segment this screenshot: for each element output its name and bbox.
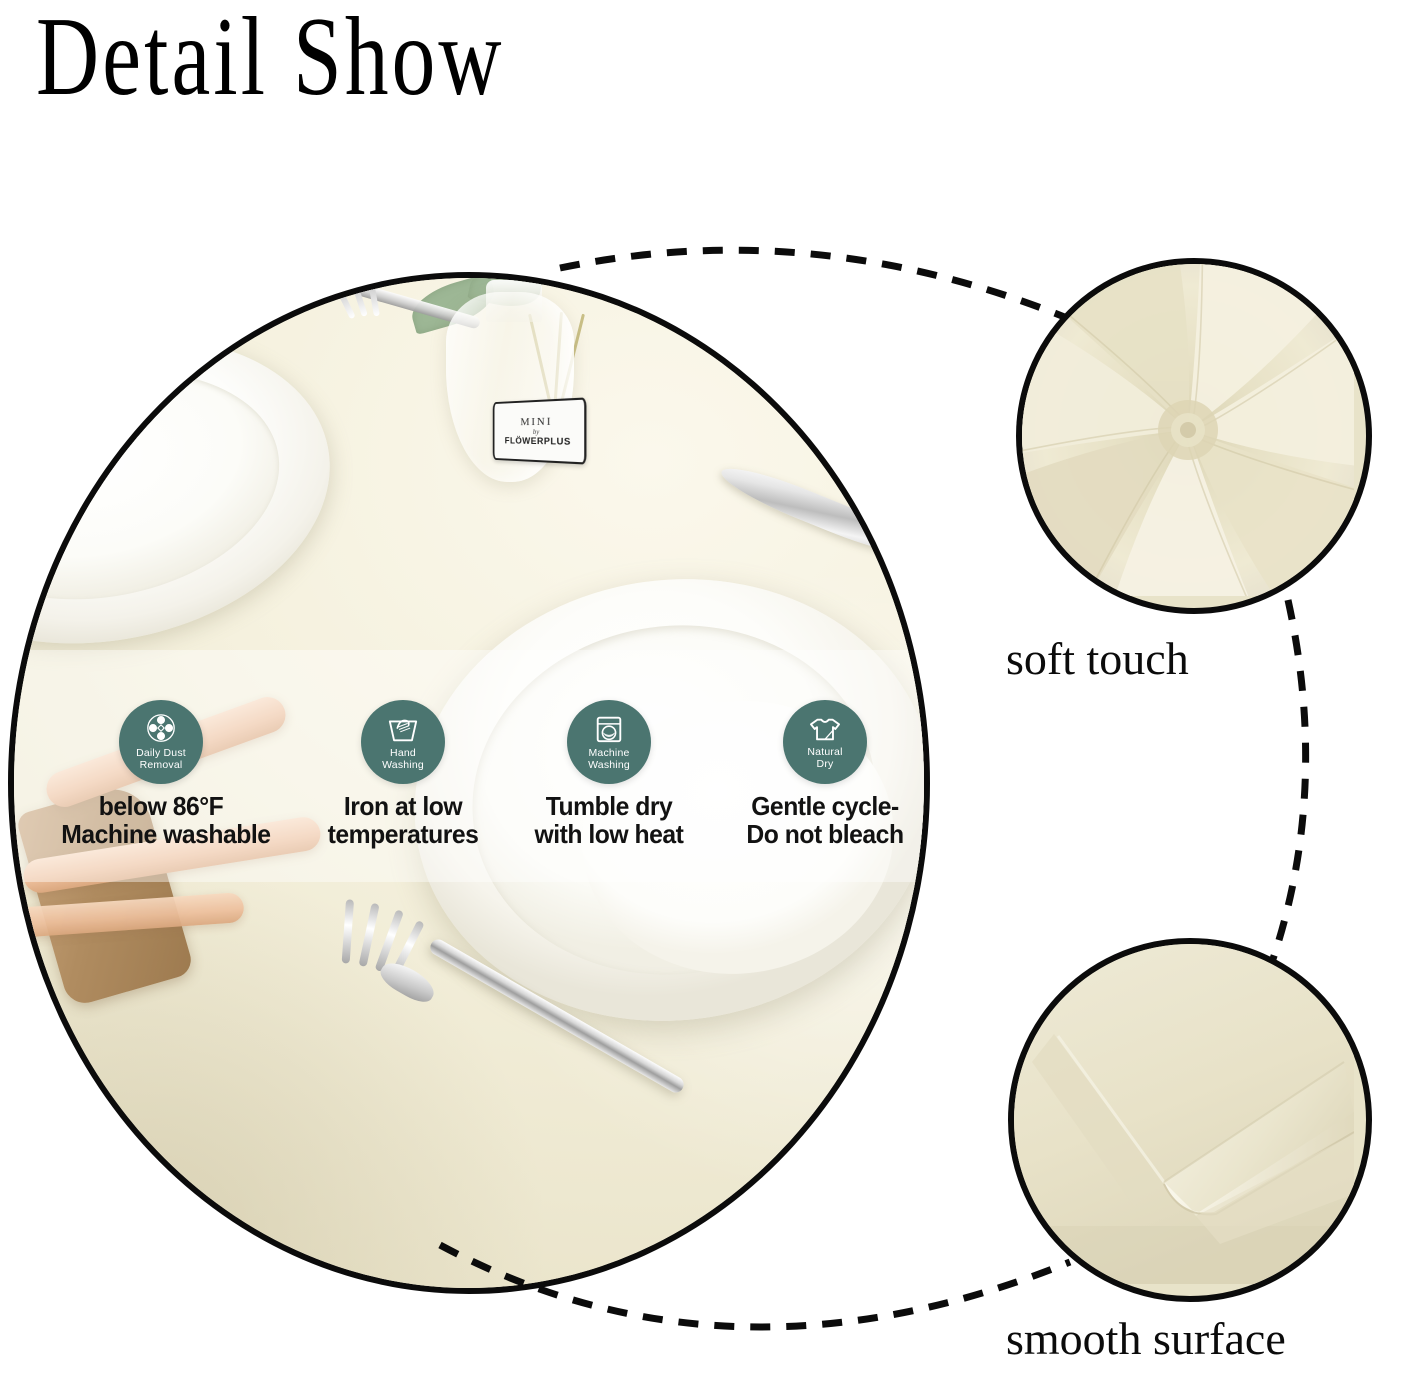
smooth-surface-caption: smooth surface: [1006, 1312, 1286, 1365]
page-title: Detail Show: [36, 0, 505, 119]
care-text-line2: temperatures: [303, 820, 503, 848]
care-item-hand-washing: Hand Washing Iron at low temperatures: [298, 700, 508, 848]
badge-label-line1: Hand: [390, 747, 416, 759]
badge-label-line1: Natural: [807, 746, 842, 758]
swirl-fabric-illustration: [1022, 264, 1354, 596]
care-text-line1: Gentle cycle-: [725, 792, 925, 820]
natural-dry-icon: Natural Dry: [783, 700, 867, 784]
vase-label-line3: FLÖWERPLUS: [505, 436, 571, 447]
folded-fabric-illustration: [1014, 944, 1354, 1284]
badge-label-line2: Removal: [140, 759, 183, 771]
vase-label-line1: MINI: [520, 416, 552, 428]
daily-dust-removal-icon: Daily Dust Removal: [119, 700, 203, 784]
care-text-line2: Do not bleach: [725, 820, 925, 848]
soft-touch-caption: soft touch: [1006, 632, 1189, 685]
care-text-line1: Tumble dry: [509, 792, 709, 820]
care-text-line1: below 86°F: [61, 792, 261, 820]
smooth-surface-swatch: [1008, 938, 1372, 1302]
connector-middle: [1272, 600, 1306, 962]
vase-label-line2: by: [533, 428, 539, 436]
badge-label-line1: Machine: [588, 747, 629, 759]
care-item-machine-washing: Machine Washing Tumble dry with low heat: [504, 700, 714, 848]
machine-washing-icon: Machine Washing: [567, 700, 651, 784]
care-instructions-row: Daily Dust Removal below 86°F Machine wa…: [8, 700, 918, 890]
side-plate-well: [8, 343, 299, 628]
badge-label-line1: Daily Dust: [136, 747, 186, 759]
care-text: below 86°F Machine washable: [61, 792, 261, 848]
soft-touch-swatch: [1016, 258, 1372, 614]
hand-washing-icon: Hand Washing: [361, 700, 445, 784]
badge-label-line2: Washing: [382, 759, 424, 771]
care-item-daily-dust-removal: Daily Dust Removal below 86°F Machine wa…: [56, 700, 266, 848]
care-text: Gentle cycle- Do not bleach: [725, 792, 925, 848]
vase-label: MINI by FLÖWERPLUS: [493, 397, 587, 464]
care-text-line1: Iron at low: [303, 792, 503, 820]
badge-label-line2: Dry: [817, 758, 834, 770]
care-item-natural-dry: Natural Dry Gentle cycle- Do not bleach: [720, 700, 930, 848]
care-text-line2: with low heat: [509, 820, 709, 848]
care-text: Tumble dry with low heat: [509, 792, 709, 848]
badge-label-line2: Washing: [588, 759, 630, 771]
care-text-line2: Machine washable: [61, 820, 261, 848]
care-text: Iron at low temperatures: [303, 792, 503, 848]
